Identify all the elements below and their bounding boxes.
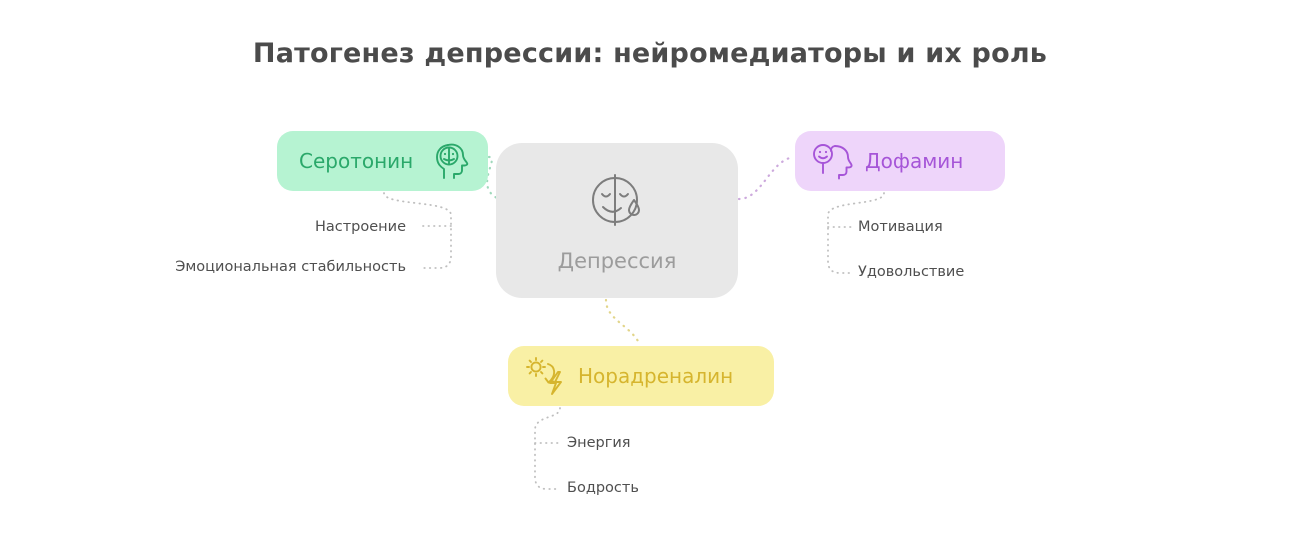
sub-label-serotonin-mood: Настроение xyxy=(150,219,406,235)
node-depression-label: Депрессия xyxy=(558,249,677,273)
sub-label-serotonin-stability: Эмоциональная стабильность xyxy=(100,259,406,275)
node-dopamine[interactable]: Дофамин xyxy=(795,131,1005,191)
sun-lightning-bolt-icon xyxy=(524,356,566,396)
node-noradrenaline-label: Норадреналин xyxy=(578,364,733,388)
node-dopamine-label: Дофамин xyxy=(865,149,963,173)
node-depression[interactable]: Депрессия xyxy=(496,143,738,298)
head-with-face-icon xyxy=(434,142,470,180)
page-title: Патогенез депрессии: нейромедиаторы и их… xyxy=(0,38,1300,69)
sub-label-noradrenaline-vigor: Бодрость xyxy=(567,480,639,496)
connector-noradrenaline-spine xyxy=(535,408,560,489)
node-serotonin-label: Серотонин xyxy=(299,149,413,173)
mindmap-canvas: Патогенез депрессии: нейромедиаторы и их… xyxy=(0,0,1300,546)
smiley-head-profile-icon xyxy=(811,142,853,180)
sub-label-dopamine-motivation: Мотивация xyxy=(858,219,943,235)
sub-label-noradrenaline-energy: Энергия xyxy=(567,435,631,451)
node-serotonin[interactable]: Серотонин xyxy=(277,131,488,191)
node-noradrenaline[interactable]: Норадреналин xyxy=(508,346,774,406)
half-happy-half-sad-face-icon xyxy=(586,169,648,235)
connector-center-to-noradrenaline xyxy=(606,300,640,345)
sub-label-dopamine-pleasure: Удовольствие xyxy=(858,264,964,280)
connector-center-to-dopamine xyxy=(739,157,794,199)
